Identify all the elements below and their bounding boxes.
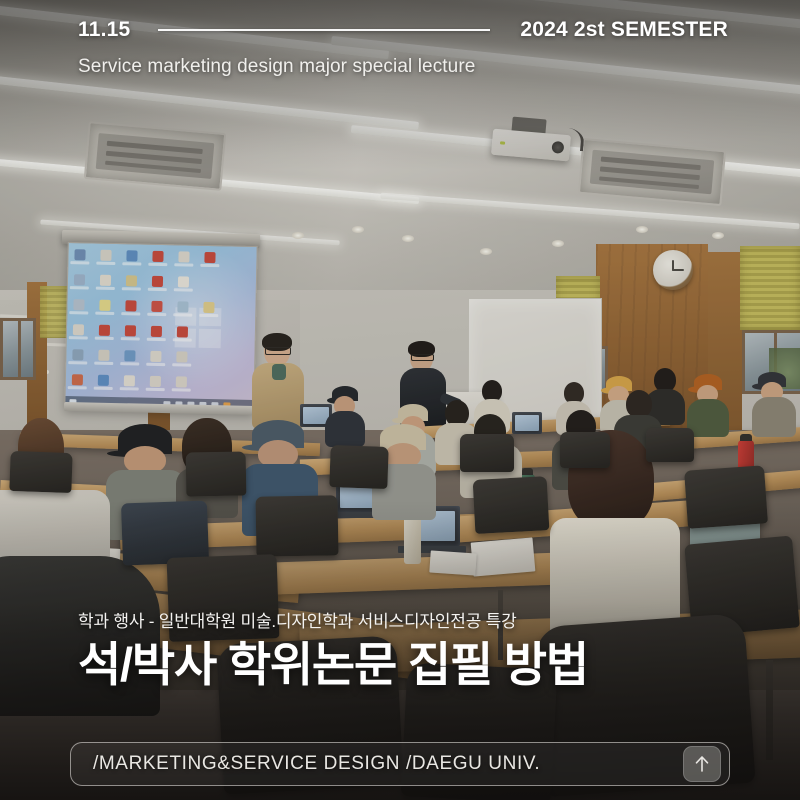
projection-screen bbox=[64, 242, 257, 414]
chair bbox=[646, 428, 694, 462]
window-blind bbox=[740, 246, 800, 330]
header-divider-line bbox=[158, 29, 490, 31]
chair bbox=[255, 495, 338, 556]
downlight-icon bbox=[480, 248, 492, 255]
glasses-icon bbox=[411, 354, 434, 361]
chair bbox=[684, 465, 768, 528]
header: 11.15 2024 2st SEMESTER Service marketin… bbox=[0, 0, 800, 78]
desk-leg bbox=[766, 660, 773, 760]
chair bbox=[460, 434, 514, 472]
downlight-icon bbox=[712, 232, 724, 239]
paper-sheet bbox=[429, 550, 476, 575]
downlight-icon bbox=[636, 226, 648, 233]
window bbox=[0, 318, 36, 380]
footer-label: /MARKETING&SERVICE DESIGN /DAEGU UNIV. bbox=[93, 753, 540, 775]
chair bbox=[329, 445, 388, 489]
chair bbox=[560, 432, 610, 468]
poster-card: 11.15 2024 2st SEMESTER Service marketin… bbox=[0, 0, 800, 800]
downlight-icon bbox=[352, 226, 364, 233]
event-kicker: 학과 행사 - 일반대학원 미술.디자인학과 서비스디자인전공 특강 bbox=[78, 607, 738, 632]
chair bbox=[121, 501, 209, 566]
chair bbox=[186, 451, 247, 496]
desktop-icon-grid bbox=[72, 249, 207, 392]
footer-bar[interactable]: /MARKETING&SERVICE DESIGN /DAEGU UNIV. bbox=[70, 742, 730, 786]
glasses-icon bbox=[265, 347, 291, 355]
header-subtitle: Service marketing design major special l… bbox=[78, 56, 728, 78]
semester-label: 2024 2st SEMESTER bbox=[520, 18, 728, 42]
arrow-up-icon bbox=[694, 755, 710, 773]
chair bbox=[473, 476, 550, 534]
ceiling-ac-vent-icon bbox=[84, 121, 227, 191]
chair bbox=[9, 451, 72, 493]
wall-clock-icon bbox=[653, 250, 693, 290]
downlight-icon bbox=[552, 240, 564, 247]
downlight-icon bbox=[402, 235, 414, 242]
event-date: 11.15 bbox=[78, 18, 130, 42]
downlight-icon bbox=[292, 232, 304, 239]
page-title: 석/박사 학위논문 집필 방법 bbox=[78, 639, 738, 692]
header-top-row: 11.15 2024 2st SEMESTER bbox=[78, 18, 728, 42]
paper-sheet bbox=[471, 537, 536, 576]
title-block: 학과 행사 - 일반대학원 미술.디자인학과 서비스디자인전공 특강 석/박사 … bbox=[78, 607, 738, 692]
scroll-up-button[interactable] bbox=[683, 746, 721, 782]
